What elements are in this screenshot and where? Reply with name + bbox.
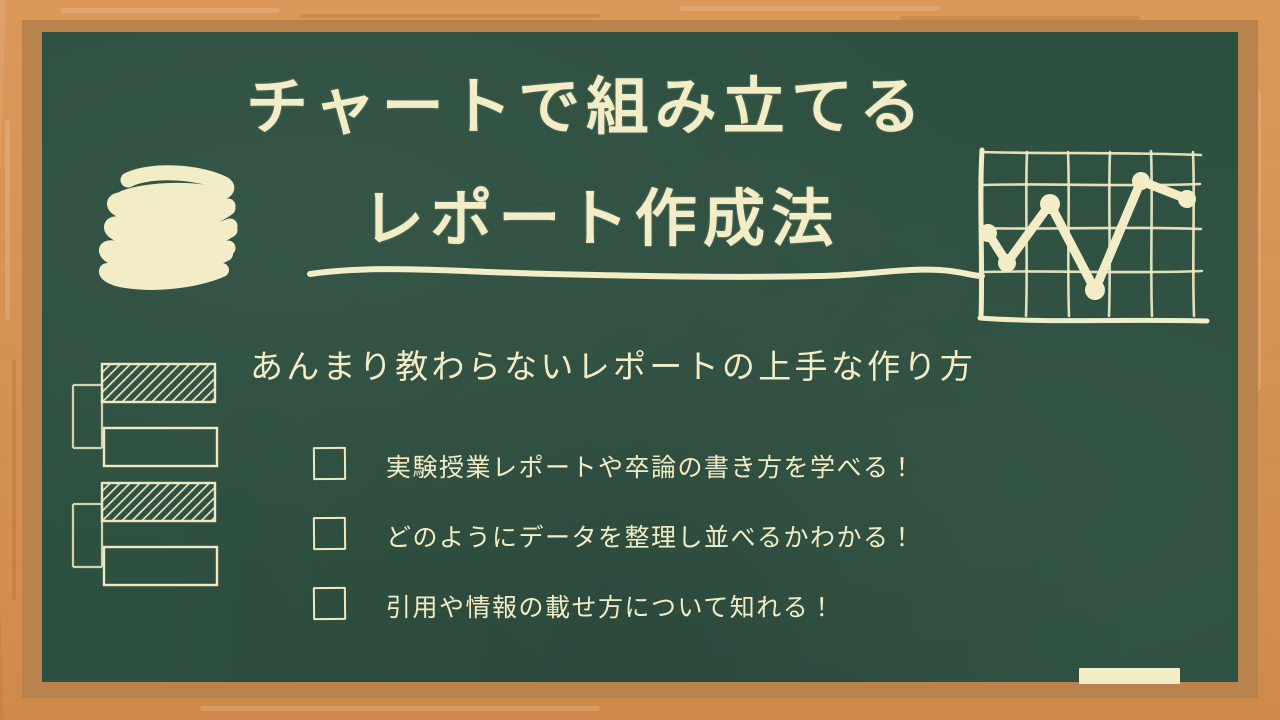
wood-grain-streak <box>60 8 280 13</box>
wood-grain-streak <box>200 706 600 711</box>
wood-grain-streak <box>5 120 10 320</box>
chart-x-axis <box>980 318 1207 321</box>
chalk-scribble-icon <box>82 150 242 300</box>
bracket-diagram <box>62 352 232 592</box>
checklist-label-2: どのようにデータを整理し並べるかわかる！ <box>386 518 916 554</box>
title-line-2: レポート作成法 <box>362 168 839 258</box>
bracket-node-4 <box>104 547 217 585</box>
wood-grain-streak <box>12 360 16 600</box>
wood-grain-streak <box>300 14 600 18</box>
chalk-stick[interactable] <box>1079 668 1180 684</box>
bracket-connector-top <box>73 385 102 448</box>
checkbox-item-1[interactable] <box>313 447 346 480</box>
checklist-label-1: 実験授業レポートや卒論の書き方を学べる！ <box>386 448 916 484</box>
subtitle: あんまり教わらないレポートの上手な作り方 <box>250 340 976 388</box>
bracket-node-1 <box>102 364 215 402</box>
wood-grain-streak <box>680 6 940 11</box>
checkbox-item-2[interactable] <box>313 517 346 550</box>
bracket-node-2 <box>104 428 217 466</box>
bracket-node-3 <box>102 483 215 521</box>
checkbox-item-3[interactable] <box>313 587 346 620</box>
bracket-connector-mid-lower <box>73 504 102 567</box>
chart-gridlines-vertical <box>1026 151 1194 316</box>
checklist-label-3: 引用や情報の載せ方について知れる！ <box>386 588 836 624</box>
slide-canvas: チャートで組み立てる レポート作成法 あんまり教わらないレポートの上手な作り方 … <box>0 0 1280 720</box>
title-line-1: チャートで組み立てる <box>246 56 927 146</box>
line-chart-figure <box>955 140 1225 340</box>
chart-data-line <box>988 181 1187 290</box>
